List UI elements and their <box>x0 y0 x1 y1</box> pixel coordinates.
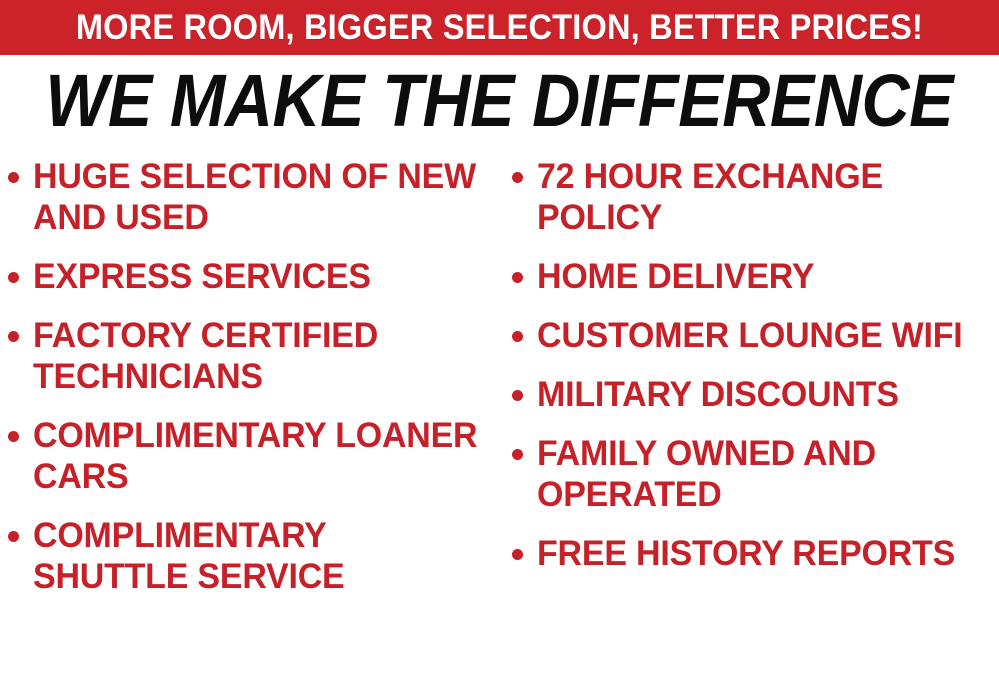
list-item: COMPLIMENTARY LOANER CARS <box>8 415 500 497</box>
list-item-label: COMPLIMENTARY SHUTTLE SERVICE <box>33 515 486 597</box>
bullet-dot-icon <box>512 449 523 460</box>
benefits-columns: HUGE SELECTION OF NEW AND USED EXPRESS S… <box>0 156 999 692</box>
bullet-dot-icon <box>8 531 19 542</box>
list-item: FREE HISTORY REPORTS <box>512 533 999 574</box>
bullet-dot-icon <box>512 549 523 560</box>
list-item-label: HOME DELIVERY <box>537 256 814 297</box>
list-item: FAMILY OWNED AND OPERATED <box>512 433 999 515</box>
bullet-dot-icon <box>8 172 19 183</box>
bullet-dot-icon <box>8 272 19 283</box>
bullet-dot-icon <box>8 431 19 442</box>
list-item: EXPRESS SERVICES <box>8 256 500 297</box>
benefits-column-right: 72 HOUR EXCHANGE POLICY HOME DELIVERY CU… <box>512 156 999 692</box>
benefits-column-left: HUGE SELECTION OF NEW AND USED EXPRESS S… <box>8 156 500 692</box>
bullet-dot-icon <box>512 331 523 342</box>
bullet-dot-icon <box>512 272 523 283</box>
list-item: CUSTOMER LOUNGE WIFI <box>512 315 999 356</box>
list-item: HOME DELIVERY <box>512 256 999 297</box>
list-item: HUGE SELECTION OF NEW AND USED <box>8 156 500 238</box>
list-item-label: COMPLIMENTARY LOANER CARS <box>33 415 486 497</box>
bullet-dot-icon <box>512 390 523 401</box>
list-item-label: FREE HISTORY REPORTS <box>537 533 955 574</box>
advertisement-banner: MORE ROOM, BIGGER SELECTION, BETTER PRIC… <box>0 0 999 692</box>
list-item-label: 72 HOUR EXCHANGE POLICY <box>537 156 985 238</box>
list-item: FACTORY CERTIFIED TECHNICIANS <box>8 315 500 397</box>
list-item: MILITARY DISCOUNTS <box>512 374 999 415</box>
list-item: 72 HOUR EXCHANGE POLICY <box>512 156 999 238</box>
promo-banner-text: MORE ROOM, BIGGER SELECTION, BETTER PRIC… <box>76 10 923 45</box>
list-item-label: MILITARY DISCOUNTS <box>537 374 899 415</box>
list-item-label: CUSTOMER LOUNGE WIFI <box>537 315 963 356</box>
list-item-label: HUGE SELECTION OF NEW AND USED <box>33 156 486 238</box>
promo-banner: MORE ROOM, BIGGER SELECTION, BETTER PRIC… <box>0 0 999 55</box>
list-item-label: FAMILY OWNED AND OPERATED <box>537 433 985 515</box>
list-item: COMPLIMENTARY SHUTTLE SERVICE <box>8 515 500 597</box>
list-item-label: FACTORY CERTIFIED TECHNICIANS <box>33 315 486 397</box>
bullet-dot-icon <box>512 172 523 183</box>
bullet-dot-icon <box>8 331 19 342</box>
list-item-label: EXPRESS SERVICES <box>33 256 371 297</box>
headline-container: WE MAKE THE DIFFERENCE <box>0 62 999 140</box>
page-title: WE MAKE THE DIFFERENCE <box>46 64 954 138</box>
